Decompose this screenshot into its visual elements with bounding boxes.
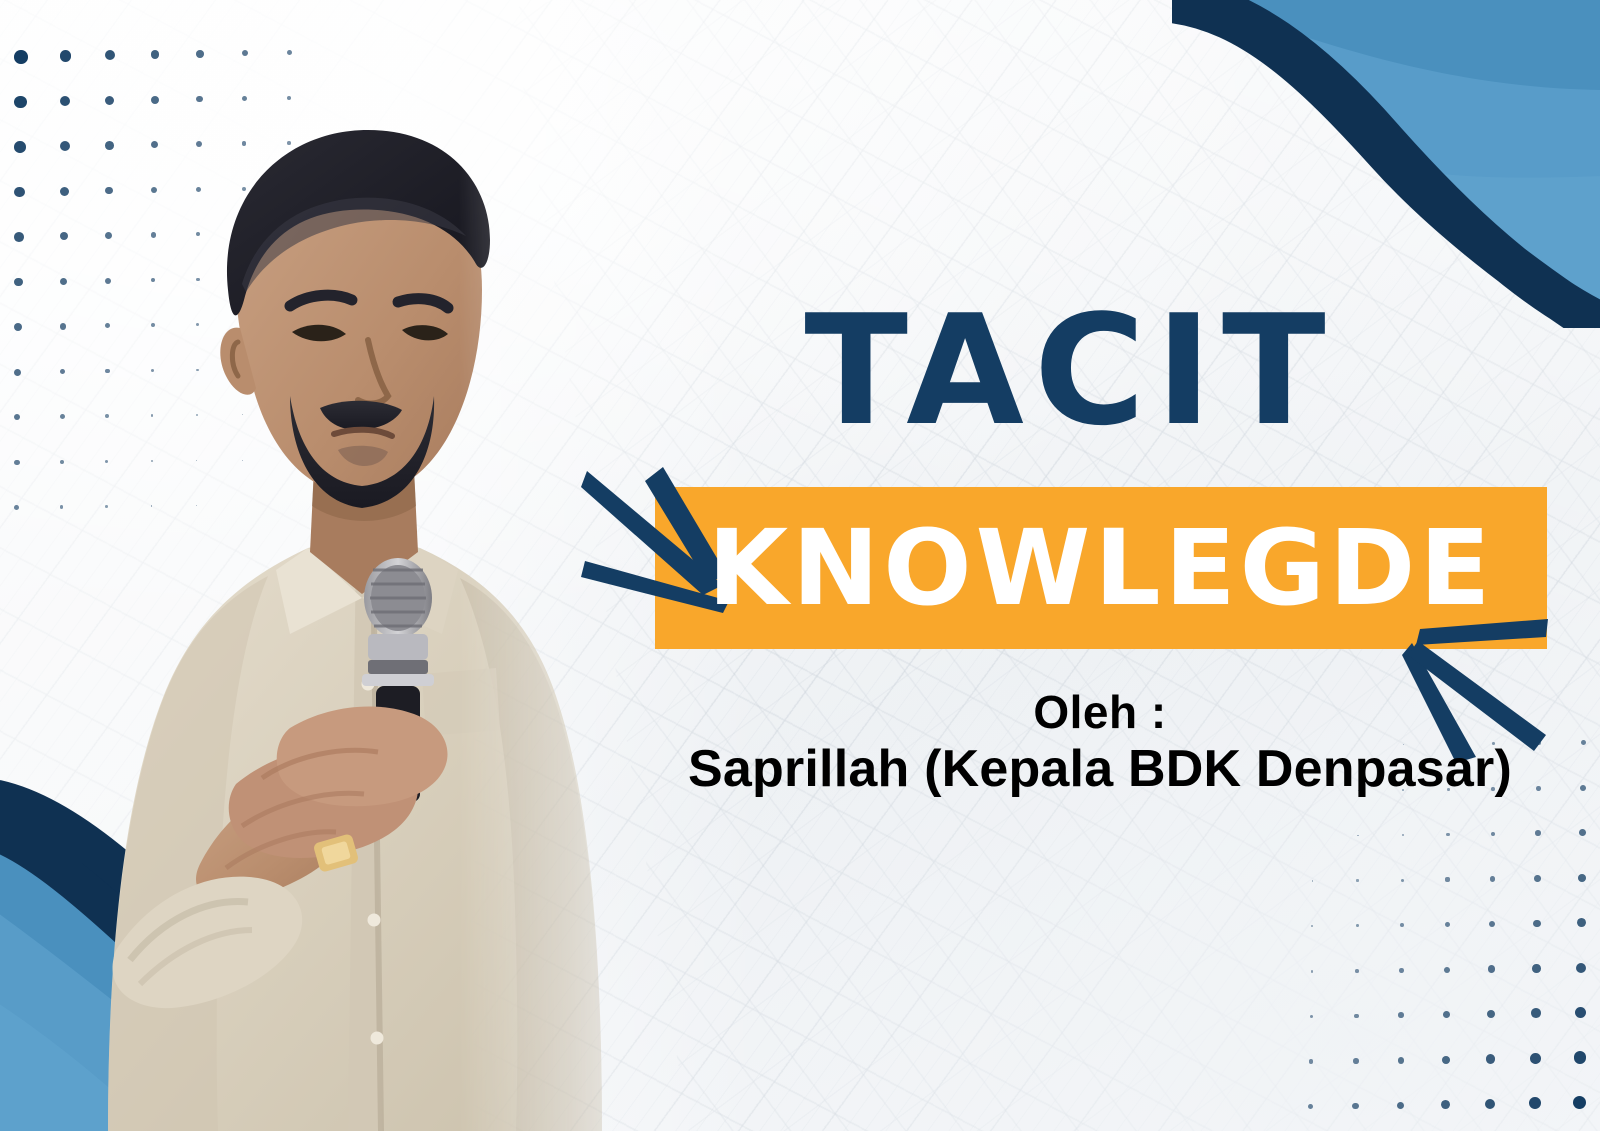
byline-label: Oleh : [640, 688, 1560, 738]
presentation-slide: TACIT KNOWLEGDE Oleh : Saprillah (Kepala… [0, 0, 1600, 1131]
slide-title-secondary: KNOWLEGDE [655, 487, 1547, 649]
byline-name: Saprillah (Kepala BDK Denpasar) [640, 740, 1560, 798]
byline: Oleh : Saprillah (Kepala BDK Denpasar) [640, 688, 1560, 798]
slide-title-primary: TACIT [760, 298, 1380, 444]
speaker-photo [0, 78, 680, 1131]
